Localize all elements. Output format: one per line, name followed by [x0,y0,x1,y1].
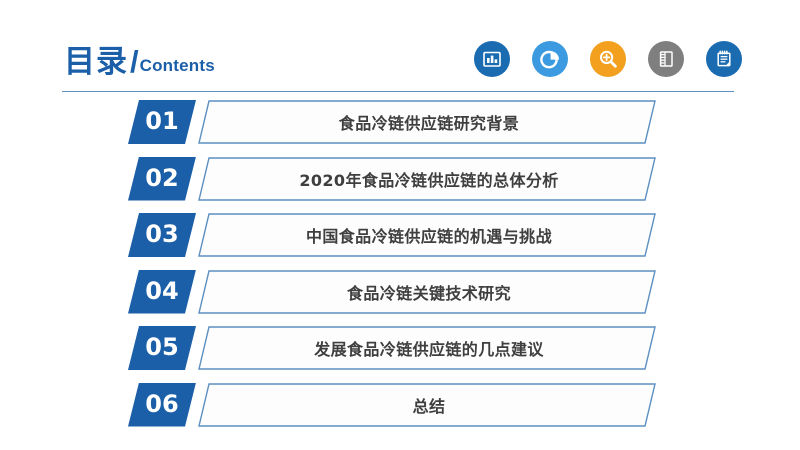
contents-item-04[interactable]: 04 食品冷链关键技术研究 [0,270,800,314]
slide-header: 目录 / Contents [0,0,800,96]
contents-list: 01 食品冷链供应链研究背景 02 2020年食品冷链供应链的总体分析 [0,100,800,439]
contents-item-label: 总结 [409,393,446,417]
contents-item-number-chip: 05 [128,326,196,370]
contents-item-label-chip[interactable]: 食品冷链关键技术研究 [198,270,656,314]
contents-item-number-chip: 01 [128,100,196,144]
contents-item-01[interactable]: 01 食品冷链供应链研究背景 [0,100,800,144]
slide-canvas: 目录 / Contents [0,0,800,450]
contents-item-number: 03 [145,222,178,246]
notebook-icon[interactable] [648,41,684,77]
contents-item-label-chip[interactable]: 食品冷链供应链研究背景 [198,100,656,144]
contents-item-label: 2020年食品冷链供应链的总体分析 [295,167,558,191]
page-title: 目录 / Contents [64,36,215,81]
contents-item-05[interactable]: 05 发展食品冷链供应链的几点建议 [0,326,800,370]
contents-item-number-chip: 02 [128,157,196,201]
contents-item-label-chip[interactable]: 发展食品冷链供应链的几点建议 [198,326,656,370]
header-icon-row [474,41,742,77]
contents-item-label: 食品冷链关键技术研究 [343,280,511,304]
page-title-cn: 目录 [64,36,128,81]
contents-item-number: 06 [145,392,178,416]
contents-item-label-chip[interactable]: 中国食品冷链供应链的机遇与挑战 [198,213,656,257]
bar-chart-icon[interactable] [474,41,510,77]
header-divider [62,91,734,92]
contents-item-number: 05 [145,335,178,359]
clipboard-notepad-icon[interactable] [706,41,742,77]
contents-item-label-chip[interactable]: 2020年食品冷链供应链的总体分析 [198,157,656,201]
contents-item-number: 04 [145,279,178,303]
contents-item-number-chip: 04 [128,270,196,314]
contents-item-label-chip[interactable]: 总结 [198,383,656,427]
pie-chart-icon[interactable] [532,41,568,77]
contents-item-label: 发展食品冷链供应链的几点建议 [310,336,544,360]
page-title-separator: / [130,44,139,80]
contents-item-02[interactable]: 02 2020年食品冷链供应链的总体分析 [0,157,800,201]
contents-item-number: 02 [145,166,178,190]
contents-item-03[interactable]: 03 中国食品冷链供应链的机遇与挑战 [0,213,800,257]
contents-item-number-chip: 06 [128,383,196,427]
page-title-en: Contents [140,56,215,76]
contents-item-label: 中国食品冷链供应链的机遇与挑战 [302,223,552,247]
contents-item-number: 01 [145,109,178,133]
contents-item-06[interactable]: 06 总结 [0,383,800,427]
magnifier-zoom-in-icon[interactable] [590,41,626,77]
contents-item-number-chip: 03 [128,213,196,257]
contents-item-label: 食品冷链供应链研究背景 [335,110,519,134]
